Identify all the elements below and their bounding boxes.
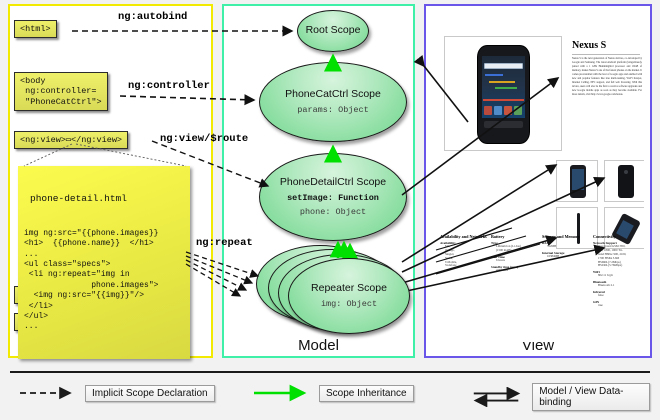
spec-group-values: HSUPA (5.76Mbps) bbox=[593, 264, 640, 268]
phone-detail-note: phone-detail.html img ng:src="{{phone.im… bbox=[18, 166, 190, 359]
spec-column-1: Battery Type Lithium Ion (Li-Ion) (1500 … bbox=[491, 234, 538, 308]
spec-group-values: 16384MB bbox=[542, 255, 589, 259]
panel-model-label: Model bbox=[224, 337, 413, 354]
spec-group-values: Vodafone bbox=[440, 264, 487, 268]
spec-group-values: (1500 mAH) bbox=[491, 249, 538, 253]
legend-item-implicit-scope-declaration: Implicit Scope Declaration bbox=[18, 383, 215, 403]
scope-phonecatctrl: PhoneCatCtrl Scope params: Object bbox=[259, 62, 407, 142]
legend-divider bbox=[10, 371, 650, 373]
spec-group-values: false bbox=[593, 294, 640, 298]
legend-item-model-view-data-binding: Model / View Data-binding bbox=[472, 383, 650, 411]
edge-label-ng-autobind: ng:autobind bbox=[118, 11, 187, 23]
product-title: Nexus S bbox=[572, 40, 606, 51]
spec-column-0-header: Availability and Networks bbox=[440, 234, 487, 239]
rendered-view-page: Nexus S Nexus S is the next generation o… bbox=[432, 12, 644, 342]
legend-label-model-view-data-binding: Model / View Data-binding bbox=[532, 383, 650, 411]
spec-column-2: Storage and Memory RAM 512MB Internal St… bbox=[542, 234, 589, 308]
scope-repeater-name: Repeater Scope bbox=[311, 283, 387, 295]
thumbnail-0[interactable] bbox=[556, 160, 598, 202]
spec-group-values: 428 hours bbox=[491, 269, 538, 273]
legend-item-scope-inheritance: Scope Inheritance bbox=[252, 383, 414, 403]
scope-root-name: Root Scope bbox=[306, 25, 361, 37]
edge-label-ng-view-route: ng:view/$route bbox=[160, 133, 248, 145]
diagram-canvas: Template Model View <html> <body ng:cont… bbox=[0, 0, 660, 420]
scope-phonedetailctrl-name: PhoneDetailCtrl Scope bbox=[280, 177, 386, 189]
product-description: Nexus S is the next generation of Nexus … bbox=[572, 57, 642, 97]
phone-detail-note-code: img ng:src="{{phone.images}} <h1> {{phon… bbox=[24, 229, 185, 333]
spec-column-2-header: Storage and Memory bbox=[542, 234, 589, 239]
spec-column-3: Connectivity Network Support Quad-band G… bbox=[593, 234, 640, 308]
scope-root: Root Scope bbox=[297, 10, 369, 52]
scope-phonecatctrl-name: PhoneCatCtrl Scope bbox=[285, 89, 381, 101]
legend-label-implicit-scope-declaration: Implicit Scope Declaration bbox=[85, 385, 215, 402]
phone-detail-note-title: phone-detail.html bbox=[24, 191, 185, 208]
title-divider bbox=[572, 54, 640, 55]
spec-group-values: true bbox=[593, 304, 640, 308]
phone-hero-image bbox=[444, 36, 562, 151]
spec-column-3-header: Connectivity bbox=[593, 234, 640, 239]
code-body-controller: <body ng:controller= "PhoneCatCtrl"> bbox=[14, 72, 108, 111]
scope-phonedetailctrl-prop-setimage: setImage: Function bbox=[287, 193, 379, 203]
spec-group-values: Bluetooth 2.1 bbox=[593, 284, 640, 288]
scope-phonecatctrl-prop-params: params: Object bbox=[297, 105, 368, 115]
spec-group-values: 802.11 b/g/n bbox=[593, 274, 640, 278]
thumbnail-1[interactable] bbox=[604, 160, 644, 202]
scope-phonedetailctrl-prop-phone: phone: Object bbox=[300, 207, 366, 217]
dashed-arrow-icon bbox=[18, 383, 80, 403]
legend-label-scope-inheritance: Scope Inheritance bbox=[319, 385, 414, 402]
spec-group-values: 512MB bbox=[542, 245, 589, 249]
spec-column-0: Availability and Networks Availability M… bbox=[440, 234, 487, 308]
green-arrow-icon bbox=[252, 383, 314, 403]
spec-group-values: 6 hours bbox=[491, 259, 538, 263]
scope-phonedetailctrl: PhoneDetailCtrl Scope setImage: Function… bbox=[259, 153, 407, 241]
scope-repeater: Repeater Scope img: Object bbox=[288, 258, 410, 334]
code-html-open: <html> bbox=[14, 20, 57, 38]
spec-table: Availability and Networks Availability M… bbox=[440, 234, 640, 308]
edge-label-ng-repeat: ng:repeat bbox=[196, 237, 253, 249]
edge-label-ng-controller: ng:controller bbox=[128, 80, 210, 92]
code-ng-view: <ng:view>▭</ng:view> bbox=[14, 131, 128, 149]
double-arrow-icon bbox=[472, 387, 527, 407]
legend: Implicit Scope Declaration Scope Inherit… bbox=[10, 380, 650, 408]
scope-repeater-prop-img: img: Object bbox=[321, 299, 377, 309]
spec-column-1-header: Battery bbox=[491, 234, 538, 239]
